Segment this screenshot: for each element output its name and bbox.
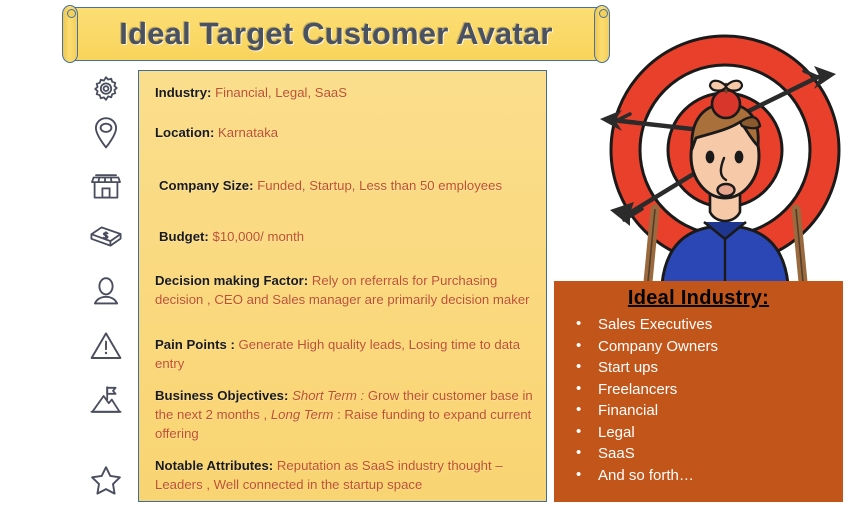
business-objectives-long-term-label: Long Term bbox=[267, 407, 333, 422]
list-item: SaaS bbox=[576, 443, 843, 465]
row-location: Location: Karnataka bbox=[155, 123, 538, 142]
location-pin-icon bbox=[82, 112, 130, 154]
star-icon bbox=[82, 459, 130, 501]
row-budget: Budget: $10,000/ month bbox=[159, 227, 538, 246]
gear-icon bbox=[82, 69, 130, 111]
storefront-icon bbox=[82, 164, 130, 206]
list-item: Sales Executives bbox=[576, 314, 843, 336]
location-label: Location: bbox=[155, 125, 214, 140]
archery-target-illustration bbox=[600, 34, 851, 284]
apple-on-head bbox=[710, 81, 742, 118]
row-decision-making-factor: Decision making Factor: Rely on referral… bbox=[155, 271, 534, 309]
page-title: Ideal Target Customer Avatar bbox=[74, 7, 598, 61]
notable-attributes-label: Notable Attributes: bbox=[155, 458, 273, 473]
row-business-objectives: Business Objectives: Short Term : Grow t… bbox=[155, 386, 540, 443]
list-item: Freelancers bbox=[576, 379, 843, 401]
person-icon bbox=[82, 270, 130, 312]
row-company-size: Company Size: Funded, Startup, Less than… bbox=[159, 176, 538, 195]
list-item: Financial bbox=[576, 400, 843, 422]
money-bill-icon bbox=[82, 217, 130, 259]
title-banner: Ideal Target Customer Avatar bbox=[60, 5, 612, 63]
company-size-label: Company Size: bbox=[159, 178, 254, 193]
company-size-value: Funded, Startup, Less than 50 employees bbox=[257, 178, 502, 193]
customer-avatar-panel: Industry: Financial, Legal, SaaS Locatio… bbox=[138, 70, 547, 502]
ideal-industry-box: Ideal Industry: Sales Executives Company… bbox=[554, 281, 843, 502]
pain-points-label: Pain Points : bbox=[155, 337, 235, 352]
list-item: And so forth… bbox=[576, 465, 843, 487]
row-notable-attributes: Notable Attributes: Reputation as SaaS i… bbox=[155, 456, 536, 494]
banner-right-knob bbox=[599, 9, 608, 18]
ideal-industry-title: Ideal Industry: bbox=[554, 287, 843, 310]
business-objectives-label: Business Objectives: bbox=[155, 388, 288, 403]
row-pain-points: Pain Points : Generate High quality lead… bbox=[155, 335, 532, 373]
ideal-industry-list: Sales Executives Company Owners Start up… bbox=[554, 314, 843, 486]
location-value: Karnataka bbox=[218, 125, 278, 140]
decision-making-factor-label: Decision making Factor: bbox=[155, 273, 308, 288]
list-item: Start ups bbox=[576, 357, 843, 379]
budget-label: Budget: bbox=[159, 229, 209, 244]
industry-label: Industry: bbox=[155, 85, 211, 100]
row-industry: Industry: Financial, Legal, SaaS bbox=[155, 83, 538, 102]
business-objectives-short-term-label: Short Term : bbox=[292, 388, 364, 403]
industry-value: Financial, Legal, SaaS bbox=[215, 85, 347, 100]
list-item: Legal bbox=[576, 422, 843, 444]
flag-mountain-icon bbox=[82, 379, 130, 421]
warning-triangle-icon bbox=[82, 324, 130, 366]
budget-value: $10,000/ month bbox=[212, 229, 304, 244]
list-item: Company Owners bbox=[576, 336, 843, 358]
attribute-icon-rail bbox=[82, 62, 130, 512]
slide-canvas: Ideal Target Customer Avatar bbox=[0, 0, 851, 516]
